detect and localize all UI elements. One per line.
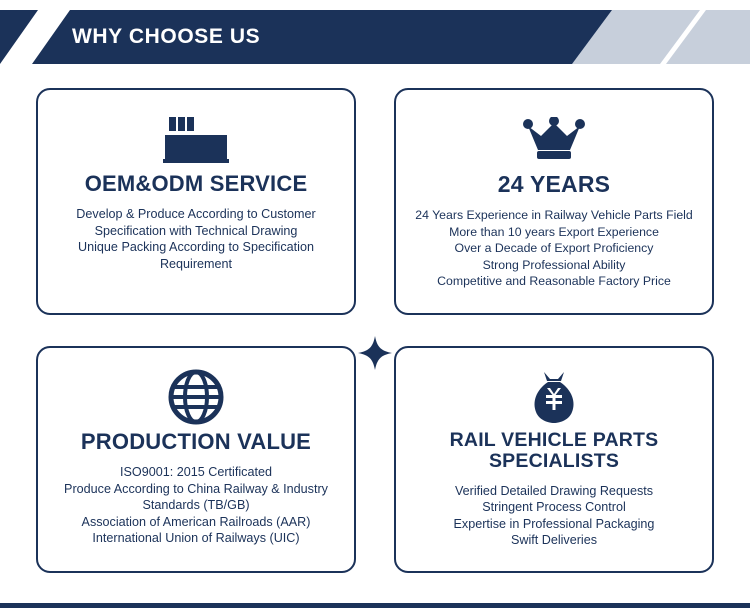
card-title: OEM&ODM SERVICE	[38, 172, 354, 196]
card-line: Stringent Process Control	[406, 499, 702, 516]
factory-icon	[38, 112, 354, 166]
card-line: Unique Packing According to Specificatio…	[48, 239, 344, 256]
page-title: WHY CHOOSE US	[72, 10, 260, 64]
crown-icon-glyph	[523, 117, 585, 161]
card-line: Over a Decade of Export Proficiency	[406, 240, 702, 257]
feature-card-production-value: PRODUCTION VALUE ISO9001: 2015 Certifica…	[36, 346, 356, 573]
card-description: Develop & Produce According to Customer …	[38, 206, 354, 272]
card-line: Requirement	[48, 256, 344, 273]
card-description: Verified Detailed Drawing Requests Strin…	[396, 483, 712, 549]
card-line: Verified Detailed Drawing Requests	[406, 483, 702, 500]
card-line: More than 10 years Export Experience	[406, 224, 702, 241]
feature-card-24-years: 24 YEARS 24 Years Experience in Railway …	[394, 88, 714, 315]
card-line: Expertise in Professional Packaging	[406, 516, 702, 533]
card-description: 24 Years Experience in Railway Vehicle P…	[396, 207, 712, 290]
card-line: Competitive and Reasonable Factory Price	[406, 273, 702, 290]
header-banner: WHY CHOOSE US	[0, 10, 750, 64]
card-line: 24 Years Experience in Railway Vehicle P…	[406, 207, 702, 224]
card-line: ISO9001: 2015 Certificated	[48, 464, 344, 481]
card-line: Swift Deliveries	[406, 532, 702, 549]
card-title: 24 YEARS	[396, 172, 712, 197]
card-line: Develop & Produce According to Customer	[48, 206, 344, 223]
four-point-star-icon	[358, 336, 392, 370]
card-line: International Union of Railways (UIC)	[48, 530, 344, 547]
card-title: PRODUCTION VALUE	[38, 430, 354, 454]
card-line: Strong Professional Ability	[406, 257, 702, 274]
globe-icon	[38, 370, 354, 424]
feature-card-oem-odm-service: OEM&ODM SERVICE Develop & Produce Accord…	[36, 88, 356, 315]
card-line: Specification with Technical Drawing	[48, 223, 344, 240]
card-title: RAIL VEHICLE PARTS SPECIALISTS	[396, 430, 712, 473]
money-bag-icon-glyph	[530, 370, 578, 424]
crown-icon	[396, 112, 712, 166]
money-bag-icon	[396, 370, 712, 424]
factory-icon-glyph	[163, 115, 229, 163]
bottom-divider	[0, 603, 750, 608]
card-line: Standards (TB/GB)	[48, 497, 344, 514]
card-description: ISO9001: 2015 Certificated Produce Accor…	[38, 464, 354, 547]
card-line: Association of American Railroads (AAR)	[48, 514, 344, 531]
globe-icon-glyph	[168, 369, 224, 425]
feature-card-rail-vehicle-parts-specialists: RAIL VEHICLE PARTS SPECIALISTS Verified …	[394, 346, 714, 573]
card-line: Produce According to China Railway & Ind…	[48, 481, 344, 498]
